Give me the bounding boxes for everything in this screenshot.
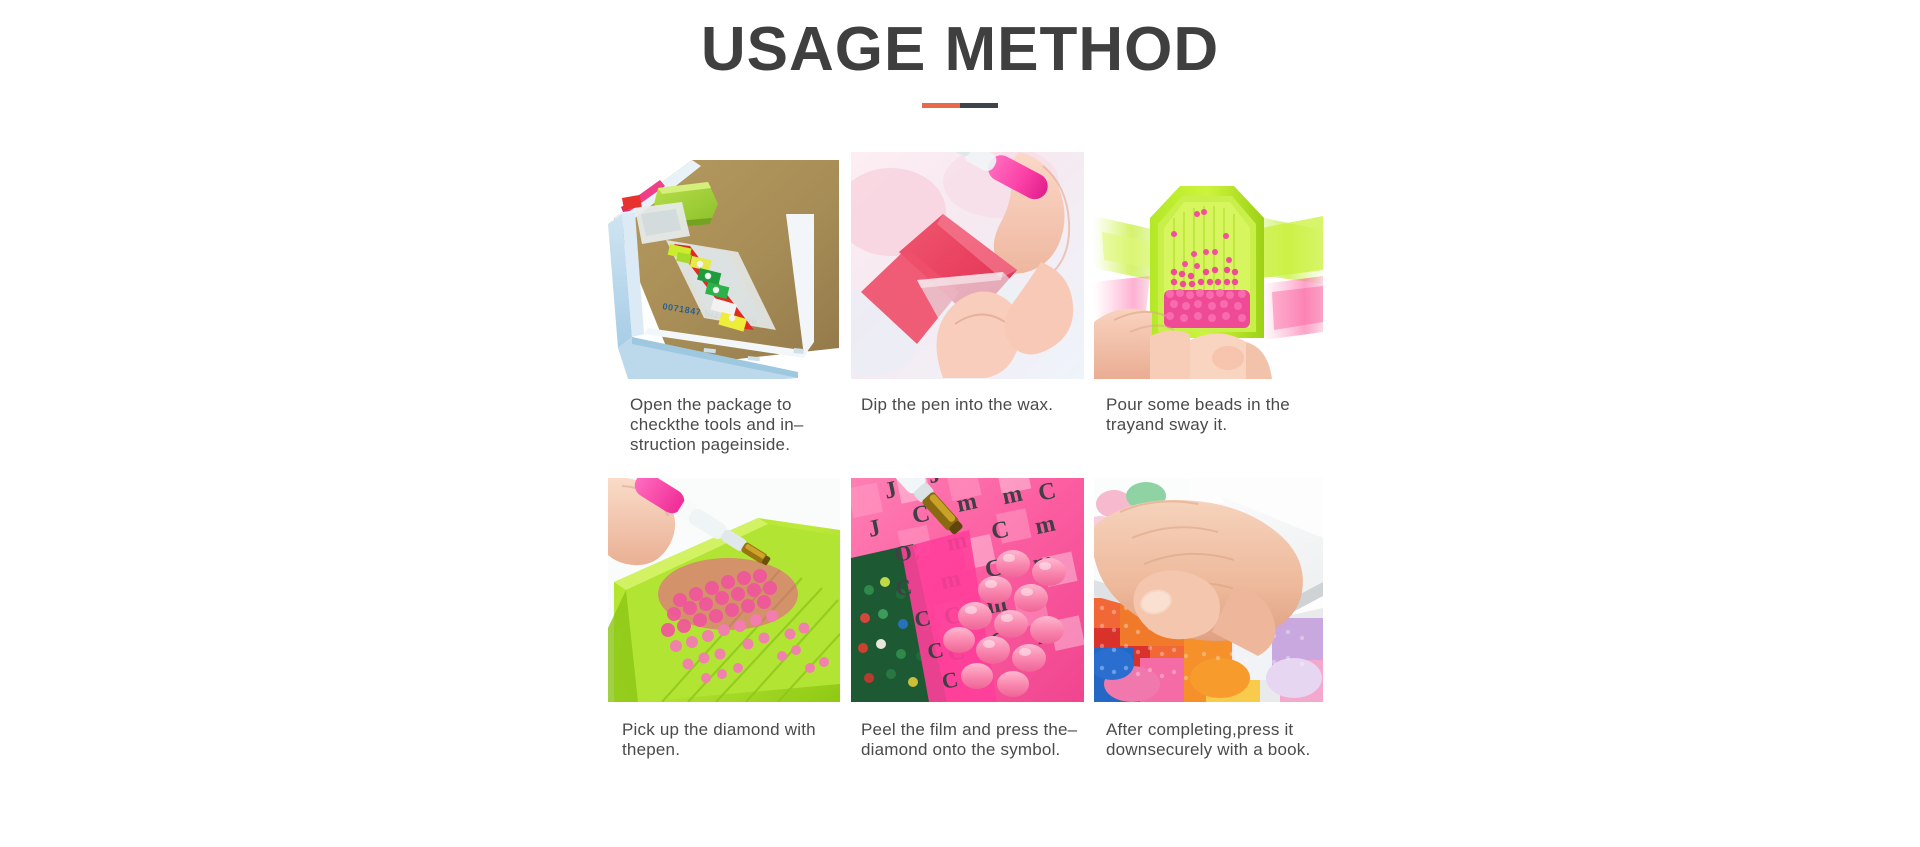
step-caption-3: Pour some beads in the trayand sway it. [1094,379,1334,435]
steps-row-1: 0071847 SIZE 40x50 [608,152,1338,455]
page-title: USAGE METHOD [0,0,1920,85]
step-image-2 [851,152,1084,379]
divider-dark-segment [960,103,998,108]
pressing-finished-canvas-with-book-photo [1094,478,1323,702]
step-image-1: 0071847 SIZE 40x50 [608,152,839,379]
step-image-3 [1094,172,1323,379]
step-card-1: 0071847 SIZE 40x50 [608,152,851,455]
step-caption-4: Pick up the diamond with thepen. [608,702,850,760]
diamond-painting-kit-package-photo: 0071847 SIZE 40x50 [608,152,839,379]
step-caption-5: Peel the film and press the– diamond ont… [851,702,1089,760]
pouring-beads-into-tray-photo [1094,172,1323,379]
usage-method-page: USAGE METHOD [0,0,1920,847]
step-image-6 [1094,478,1323,702]
step-image-5: JJCF JCmmC CCmCm CCmCm CJCmJ CCCCm [851,478,1084,702]
page-header: USAGE METHOD [0,0,1920,108]
title-divider [922,103,998,108]
step-caption-2: Dip the pen into the wax. [851,379,1089,415]
pen-dipping-into-wax-photo [851,152,1084,379]
step-card-3: Pour some beads in the trayand sway it. [1094,152,1337,455]
step-caption-1: Open the package to checkthe tools and i… [608,379,858,455]
step-card-6: After completing,press it downsecurely w… [1094,478,1337,760]
step-caption-6: After completing,press it downsecurely w… [1094,702,1334,760]
step-card-2: Dip the pen into the wax. [851,152,1094,455]
step-image-4 [608,478,840,702]
picking-up-diamond-with-pen-photo [608,478,840,702]
divider-accent-segment [922,103,960,108]
step-card-4: Pick up the diamond with thepen. [608,478,851,760]
steps-grid: 0071847 SIZE 40x50 [608,152,1338,760]
placing-diamond-on-symbol-photo: JJCF JCmmC CCmCm CCmCm CJCmJ CCCCm [851,478,1084,702]
step-card-5: JJCF JCmmC CCmCm CCmCm CJCmJ CCCCm [851,478,1094,760]
steps-row-2: Pick up the diamond with thepen. [608,478,1338,760]
